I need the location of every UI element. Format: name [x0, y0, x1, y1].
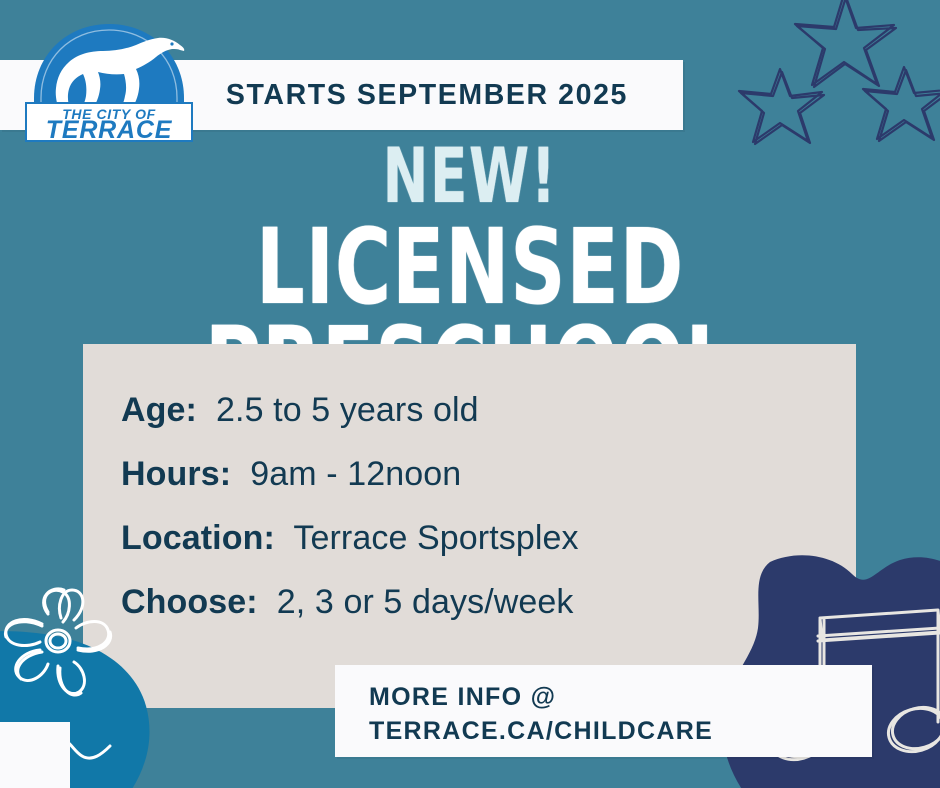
info-label-location: Location: [121, 519, 284, 557]
poster-canvas: STARTS SEPTEMBER 2025 THE CITY OF TERRAC… [0, 0, 940, 788]
headline-new: NEW! [94, 140, 846, 213]
info-label-hours: Hours: [121, 455, 241, 493]
footer-banner: MORE INFO @ TERRACE.CA/CHILDCARE [335, 665, 872, 757]
info-value-hours: 9am - 12noon [250, 455, 461, 493]
city-of-terrace-logo: THE CITY OF TERRACE [14, 18, 204, 144]
more-info-url[interactable]: TERRACE.CA/CHILDCARE [369, 717, 713, 746]
starts-date-text: STARTS SEPTEMBER 2025 [226, 79, 628, 112]
info-row: Hours: 9am - 12noon [121, 442, 836, 506]
info-value-age: 2.5 to 5 years old [216, 391, 479, 429]
info-label-age: Age: [121, 391, 207, 429]
info-row: Age: 2.5 to 5 years old [121, 378, 836, 442]
corner-accent [0, 722, 70, 788]
info-value-location: Terrace Sportsplex [293, 519, 578, 557]
info-value-choose: 2, 3 or 5 days/week [277, 583, 574, 621]
more-info-line1: MORE INFO @ [369, 683, 556, 712]
